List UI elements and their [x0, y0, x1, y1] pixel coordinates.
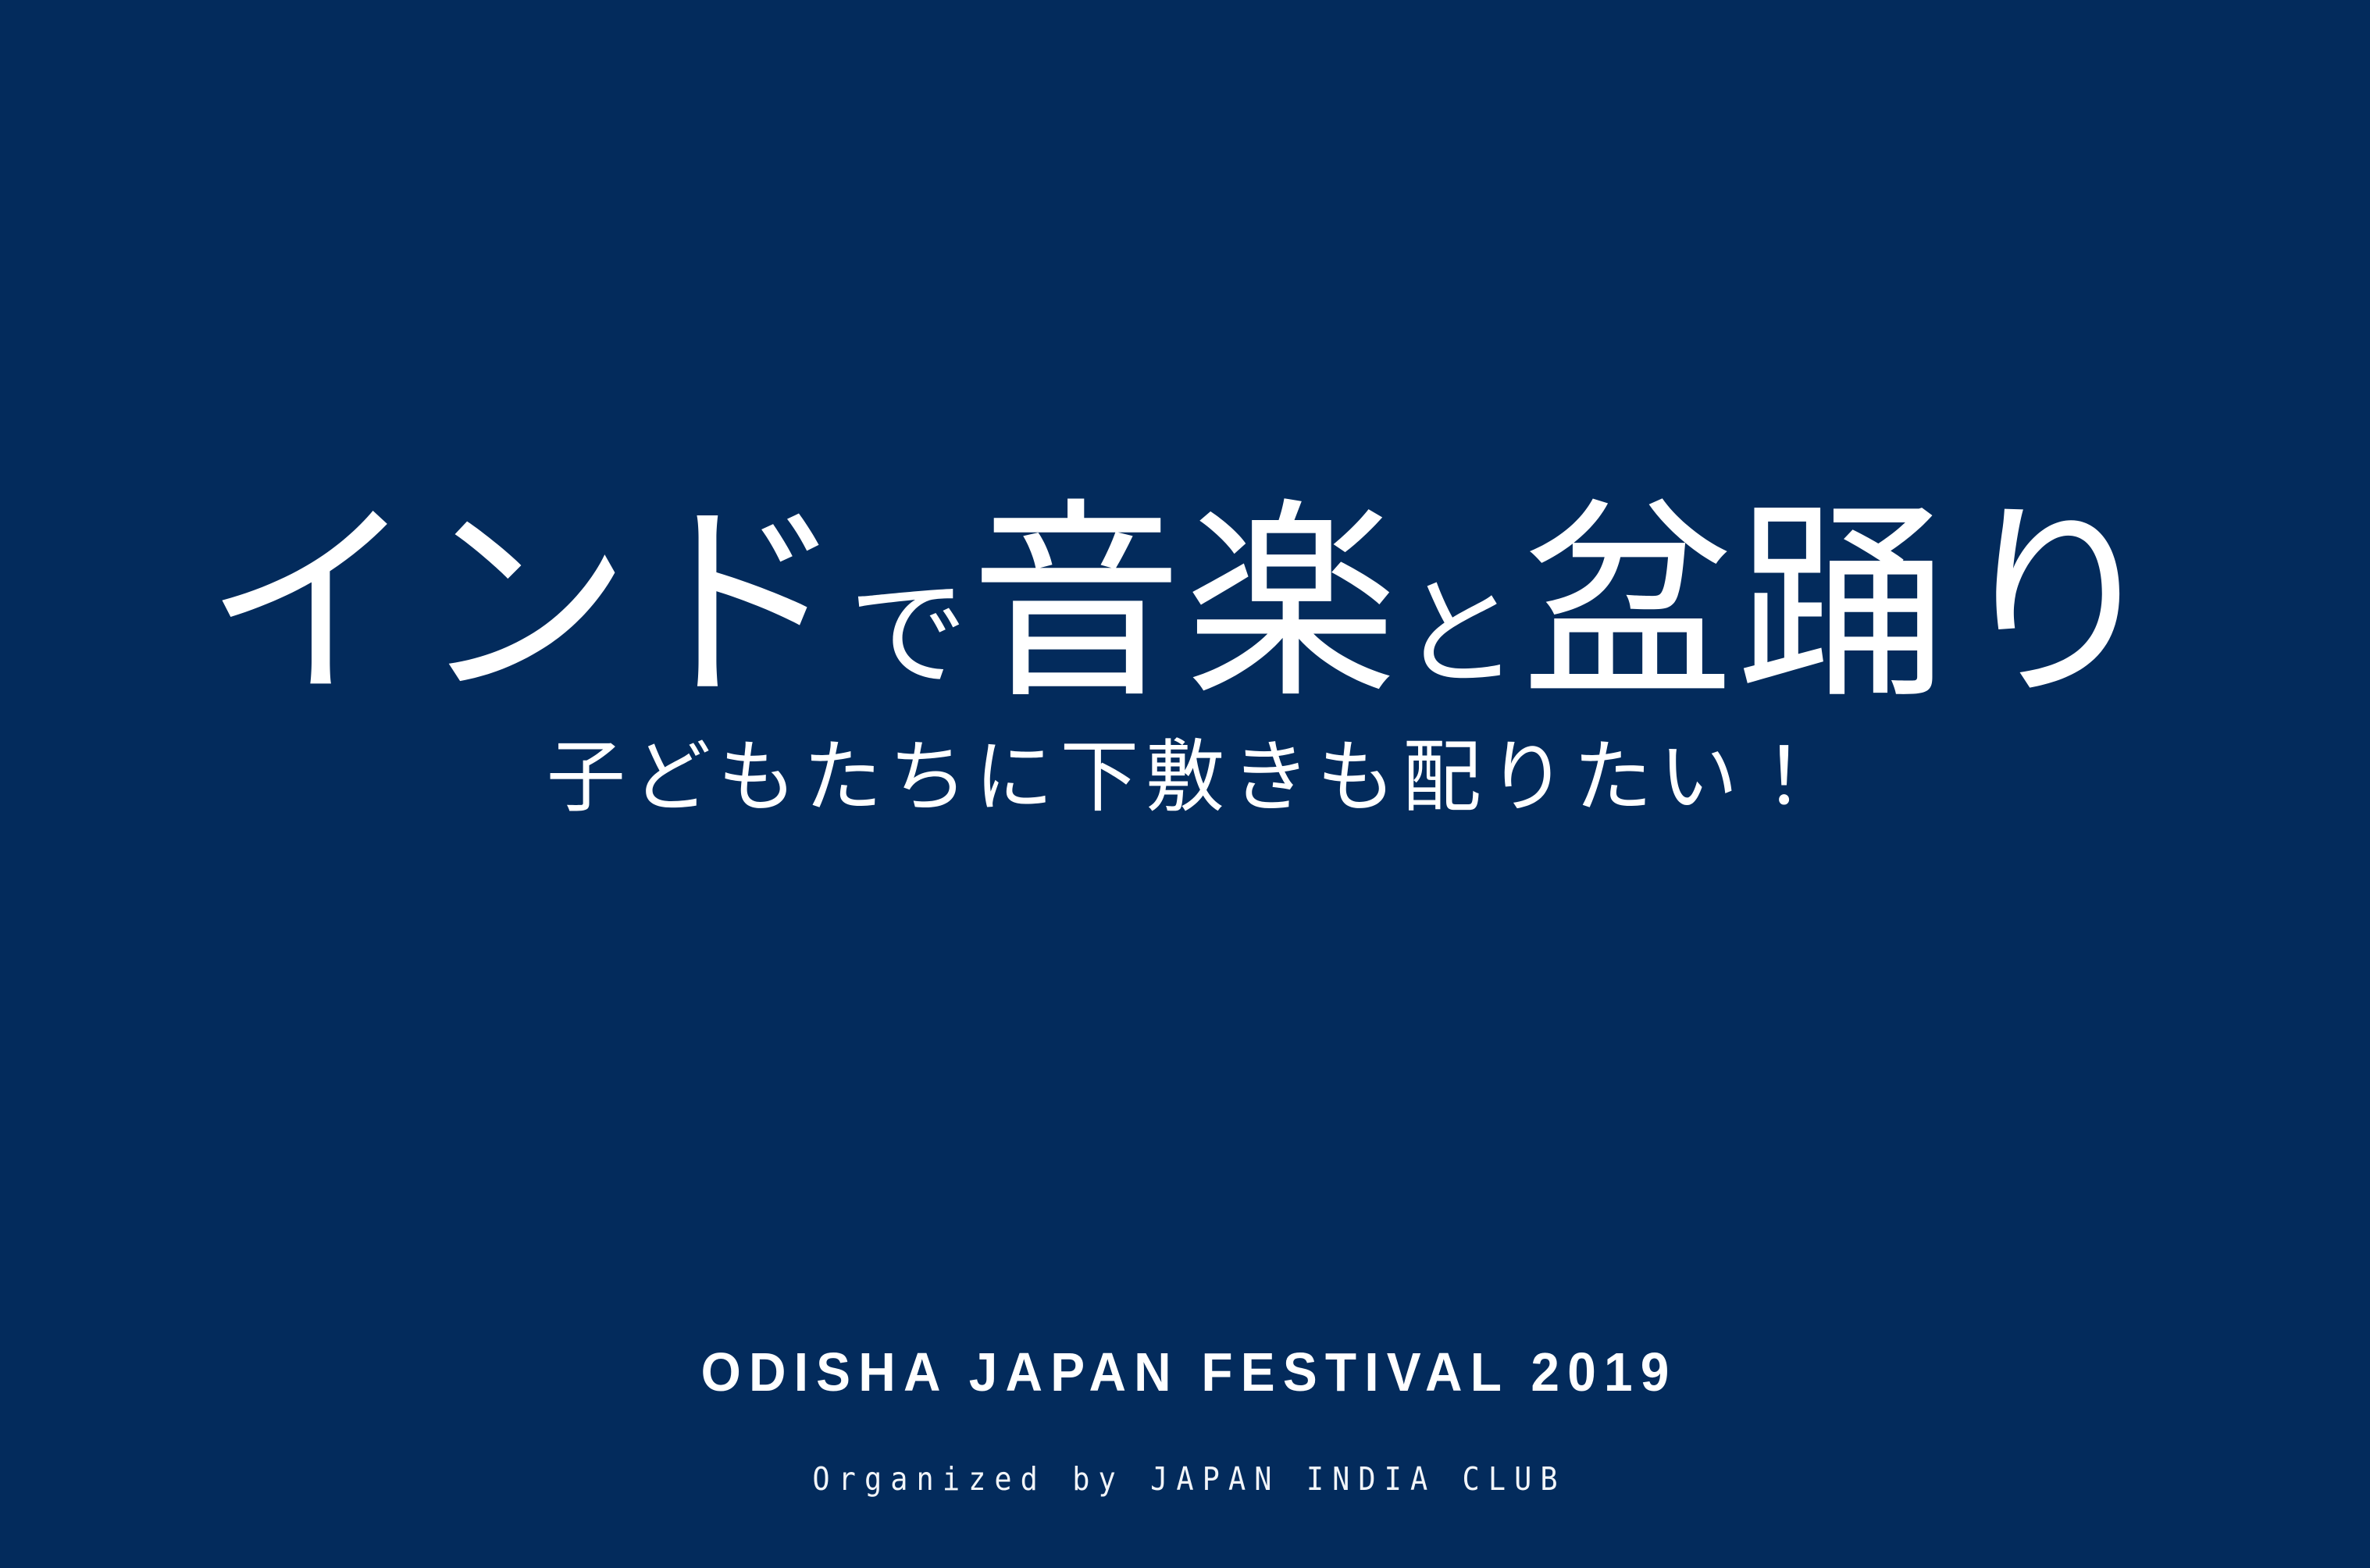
- poster-subtitle: 子どもたちに下敷きも配りたい！: [0, 739, 2370, 818]
- title-particle-to: と: [1400, 568, 1521, 700]
- title-segment-ongaku: 音楽: [970, 488, 1400, 723]
- title-segment-bonodori: 盆踊り: [1521, 488, 2166, 723]
- festival-name-label: ODISHA JAPAN FESTIVAL 2019: [71, 1345, 2299, 1399]
- poster-canvas: インドで音楽と盆踊り 子どもたちに下敷きも配りたい！ ODISHA JAPAN …: [0, 0, 2370, 1568]
- footer-block: ODISHA JAPAN FESTIVAL 2019 Organized by …: [0, 1345, 2370, 1495]
- headline-block: インドで音楽と盆踊り 子どもたちに下敷きも配りたい！: [0, 500, 2370, 818]
- poster-title: インドで音楽と盆踊り: [0, 500, 2370, 712]
- title-particle-de: で: [849, 568, 970, 700]
- organizer-label: Organized by JAPAN INDIA CLUB: [119, 1463, 2252, 1495]
- title-segment-indo: インド: [204, 488, 849, 723]
